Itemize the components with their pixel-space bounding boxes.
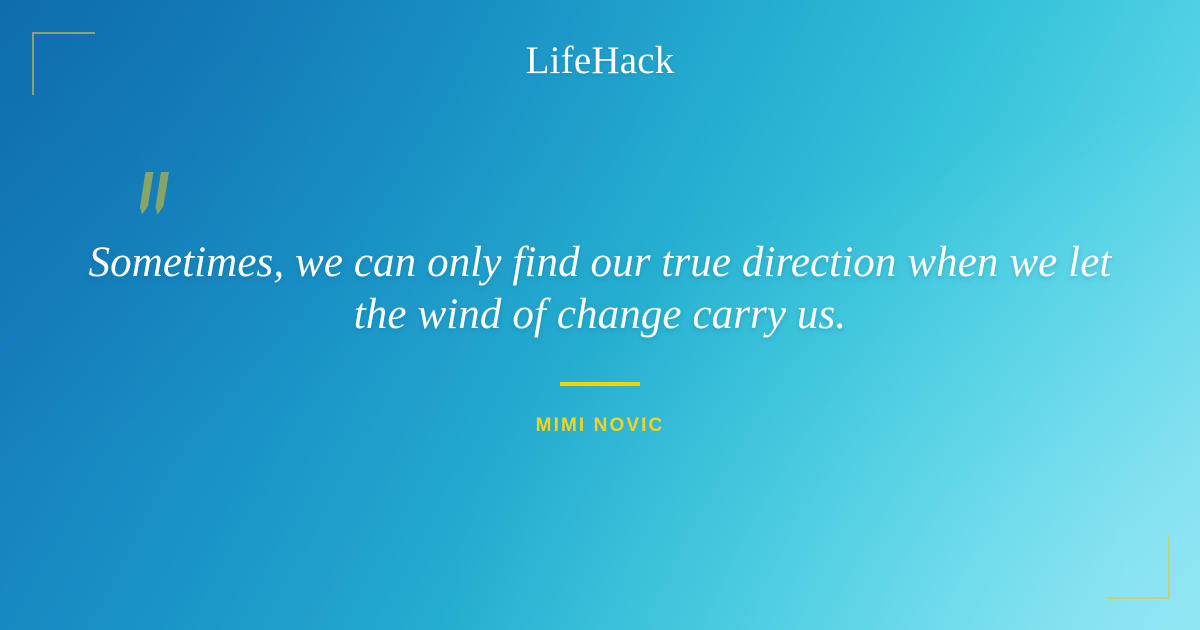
quotation-mark-icon <box>131 168 191 224</box>
corner-bracket-bottom-right-icon <box>1107 536 1170 599</box>
attribution: MIMI NOVIC <box>0 414 1200 438</box>
brand-logo: LifeHack <box>0 39 1200 83</box>
quote-block: Sometimes, we can only find our true dir… <box>60 237 1140 341</box>
brand-logo-text: LifeHack <box>526 39 675 83</box>
attribution-divider <box>560 382 640 386</box>
quote-text: Sometimes, we can only find our true dir… <box>60 237 1140 341</box>
quote-card: LifeHack Sometimes, we can only find our… <box>0 0 1200 630</box>
author-name: MIMI NOVIC <box>536 414 665 438</box>
